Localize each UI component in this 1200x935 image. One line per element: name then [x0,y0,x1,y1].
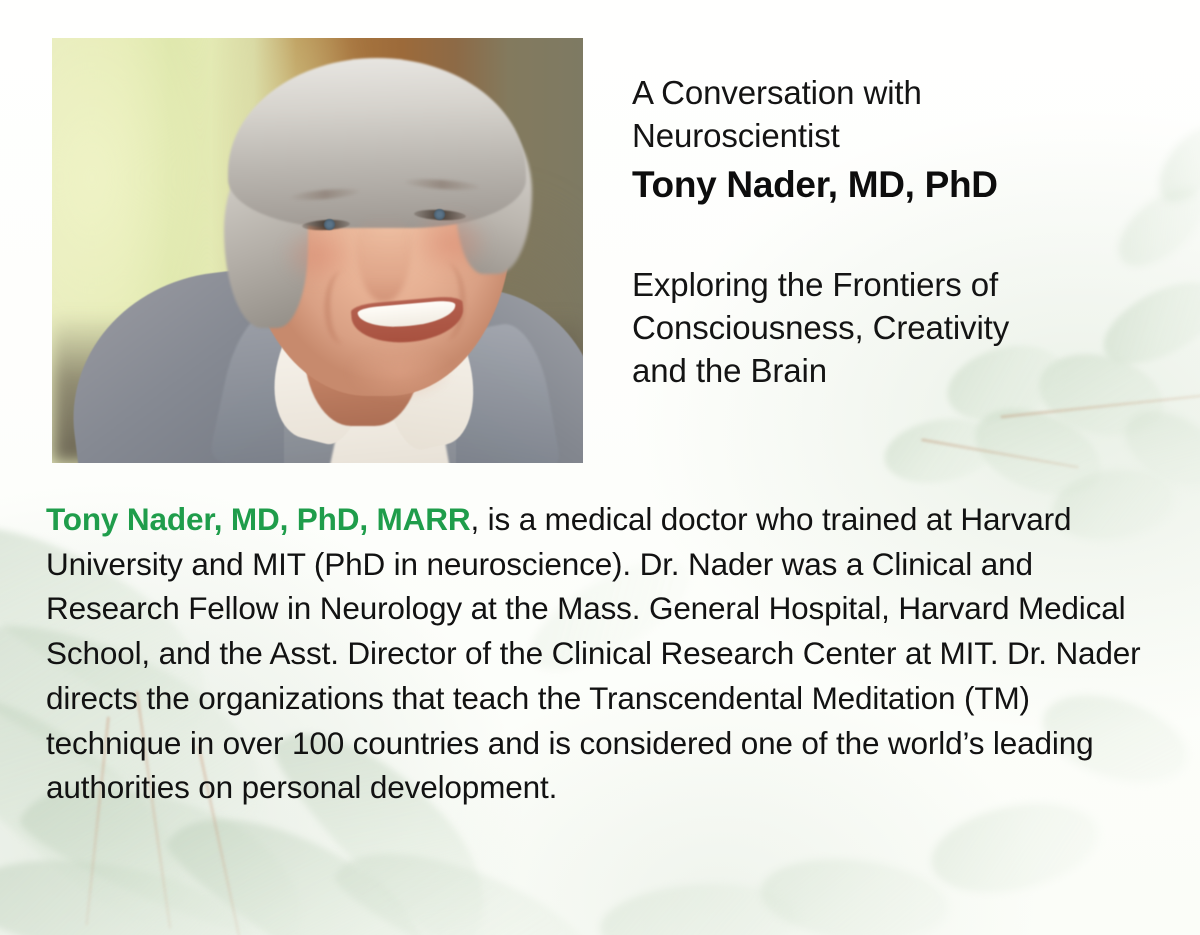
portrait-photo [52,38,583,463]
hair [228,58,526,228]
subtitle-block: Exploring the Frontiers of Consciousness… [632,264,1152,393]
subtitle-line-1: Exploring the Frontiers of [632,264,1152,307]
bio-name-highlight: Tony Nader, MD, PhD, MARR [46,501,470,537]
iris-left [324,219,335,230]
chin [348,344,452,400]
biography-paragraph: Tony Nader, MD, PhD, MARR, is a medical … [46,497,1166,810]
leaf-shape [598,877,803,935]
leaf-shape [756,850,953,935]
iris-right [434,209,445,220]
leaf-shape [1111,395,1200,505]
headline-block: A Conversation with Neuroscientist Tony … [632,72,1172,207]
stem-shape [921,438,1079,469]
bio-body-text: , is a medical doctor who trained at Har… [46,501,1140,805]
leaf-shape [0,824,288,935]
subtitle-line-3: and the Brain [632,350,1152,393]
promotional-poster: A Conversation with Neuroscientist Tony … [0,0,1200,935]
photo-subject [52,38,583,463]
leaf-shape [326,811,634,935]
stem-shape [1000,393,1200,419]
kicker-line-1: A Conversation with [632,72,1172,115]
kicker-line-2: Neuroscientist [632,115,1172,158]
leaf-shape [963,392,1114,512]
subtitle-line-2: Consciousness, Creativity [632,307,1152,350]
leaf-shape [879,411,1000,492]
page-title: Tony Nader, MD, PhD [632,162,1172,207]
